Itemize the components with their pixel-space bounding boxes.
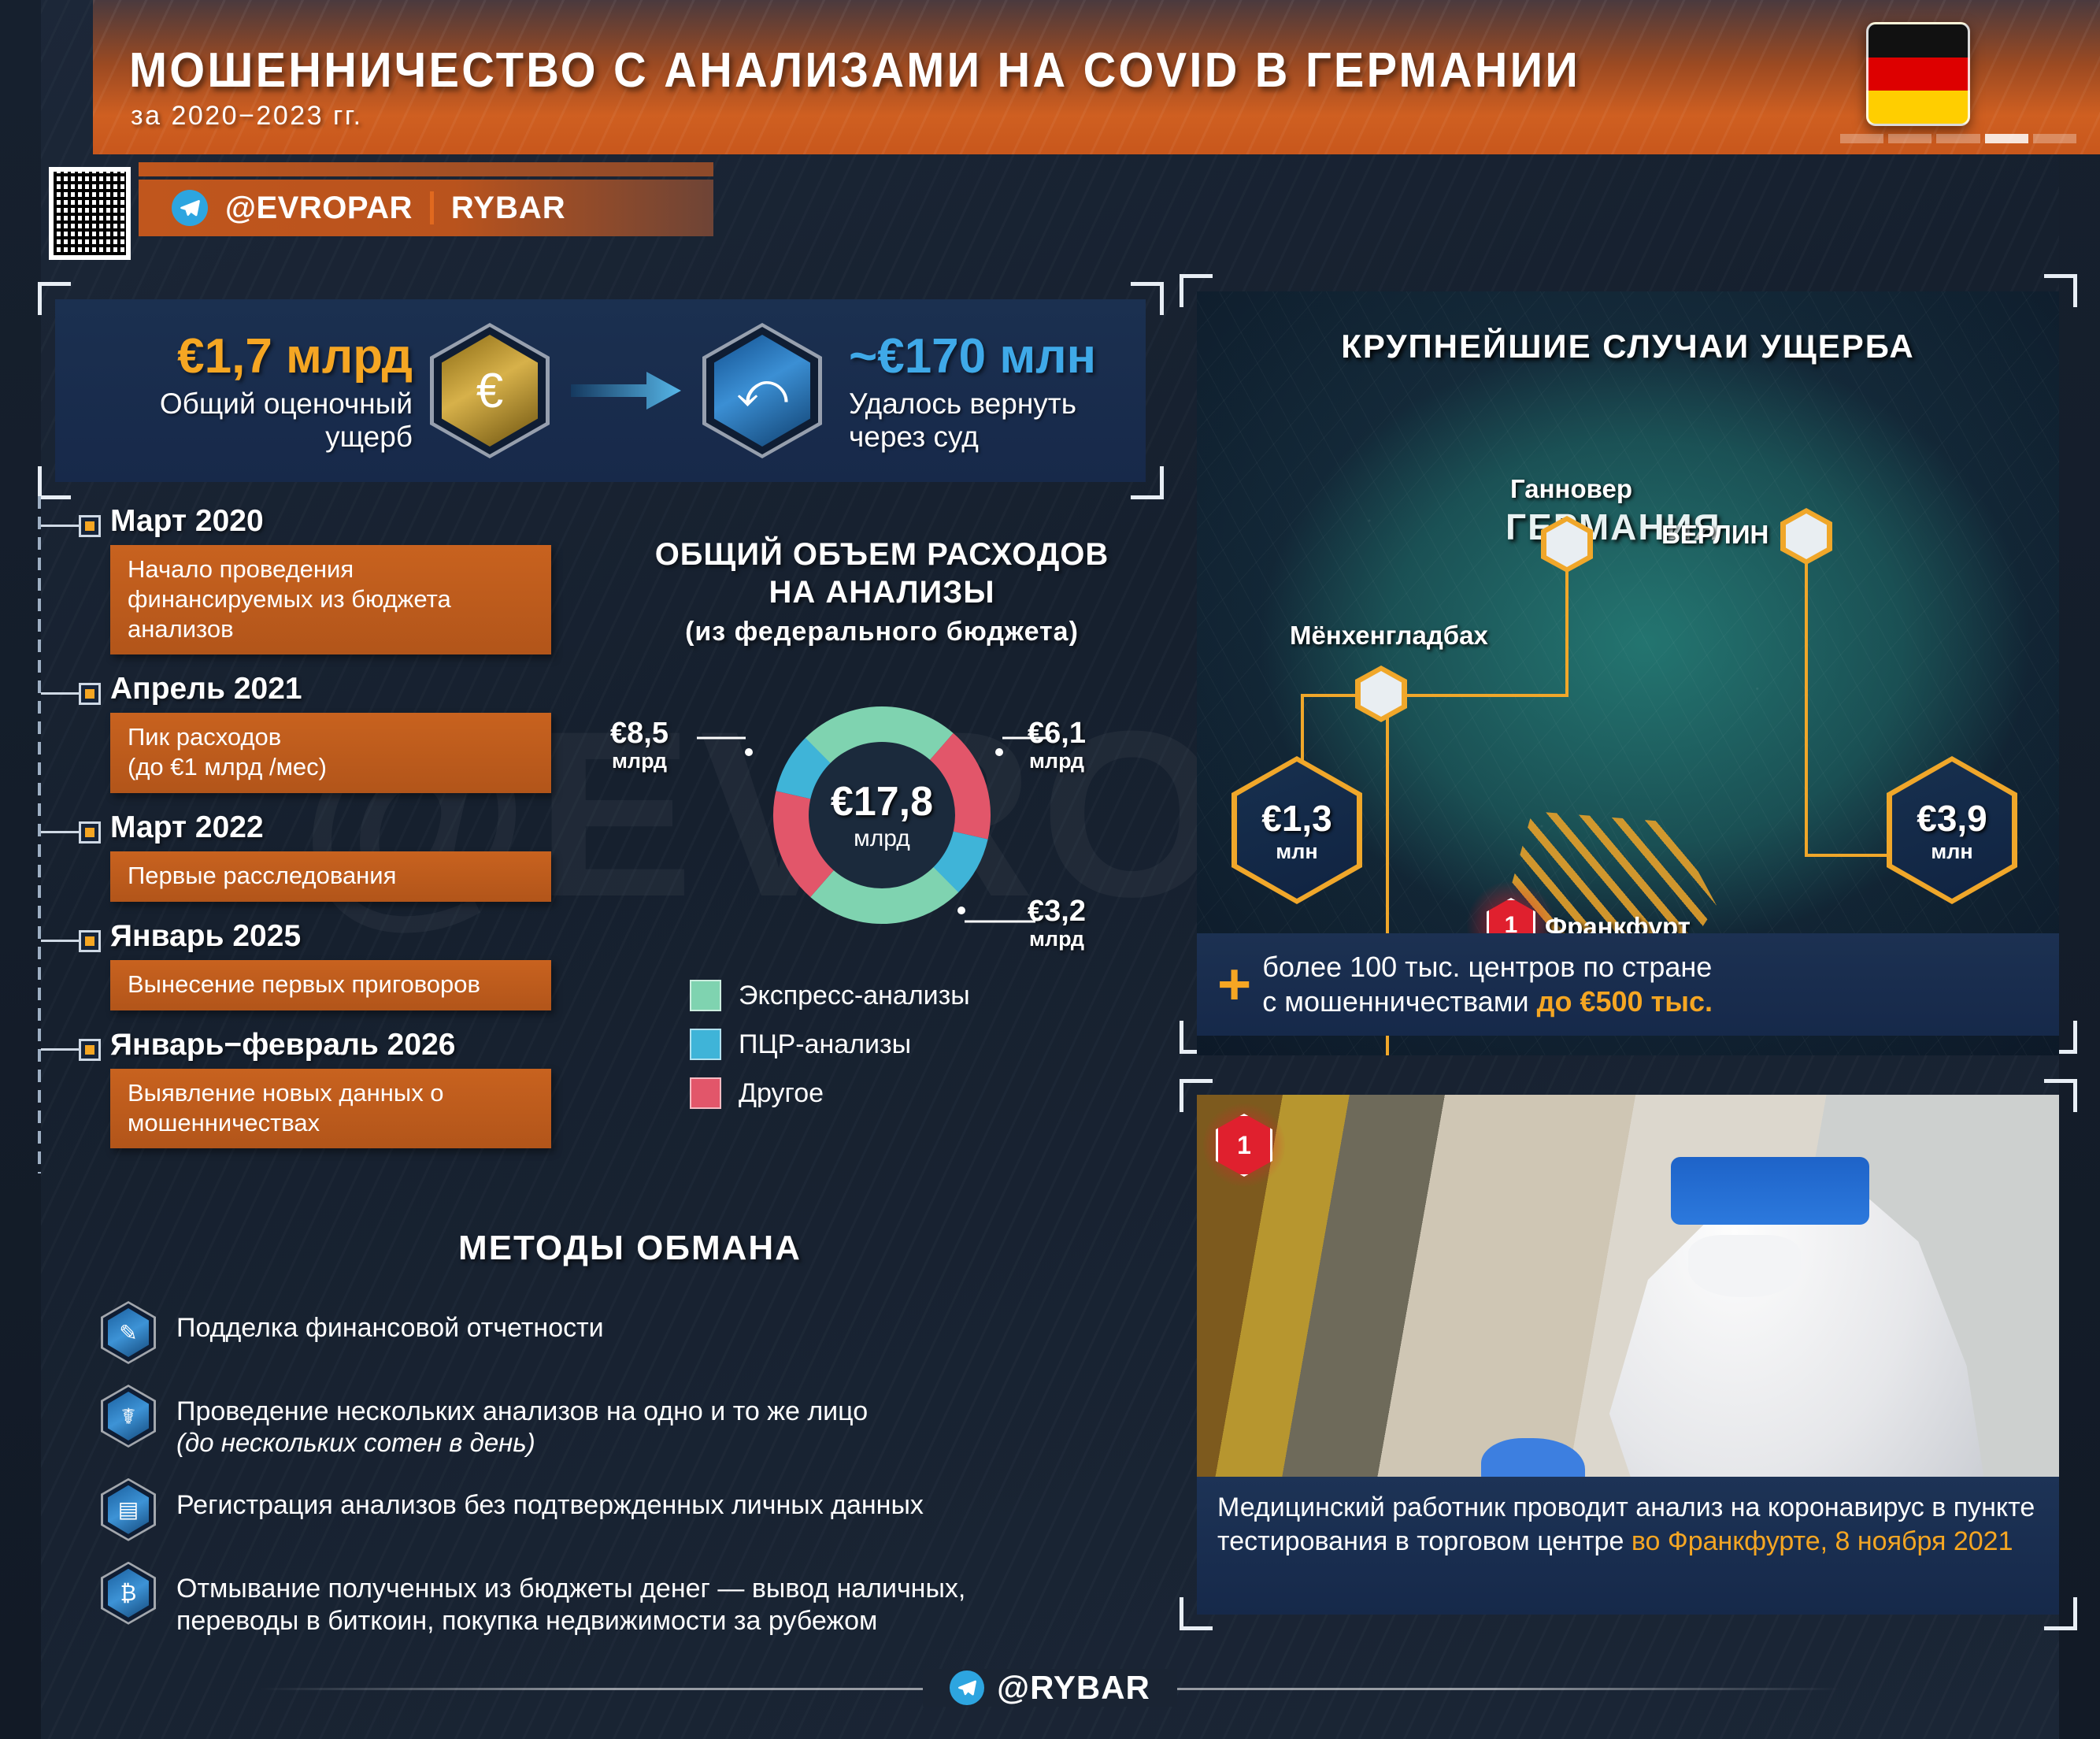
legend-swatch xyxy=(690,1077,721,1109)
header: МОШЕННИЧЕСТВО С АНАЛИЗАМИ НА COVID В ГЕР… xyxy=(93,0,2100,154)
brandbar: @EVROPAR RYBAR xyxy=(139,180,713,236)
brand-handle[interactable]: @EVROPAR xyxy=(225,191,413,226)
photo-caption: Медицинский работник проводит анализ на … xyxy=(1197,1477,2059,1615)
timeline-text: Первые расследования xyxy=(110,851,551,902)
connector xyxy=(1805,542,1808,857)
connector xyxy=(1565,551,1569,697)
qr-code-icon[interactable] xyxy=(49,167,131,260)
money-laundering-icon: ₿ xyxy=(101,1562,156,1625)
summary-left: €1,7 млрд Общий оценочныйущерб xyxy=(82,328,413,453)
right-rail xyxy=(2059,0,2100,1739)
id-card-icon: ▤ xyxy=(101,1478,156,1541)
recovered-label: Удалось вернутьчерез суд xyxy=(849,387,1119,453)
damage-value-1: €1,3 млн xyxy=(1231,756,1362,904)
money-return-icon: ⤺ xyxy=(702,323,822,458)
method-text-group: Проведение нескольких анализов на одно и… xyxy=(176,1385,868,1458)
footer-handle[interactable]: @RYBAR xyxy=(997,1669,1150,1707)
footer-badge[interactable]: @RYBAR xyxy=(923,1669,1177,1707)
page-title: МОШЕННИЧЕСТВО С АНАЛИЗАМИ НА COVID В ГЕР… xyxy=(129,43,1580,98)
expenses-chart: ОБЩИЙ ОБЪЕМ РАСХОДОВ НА АНАЛИЗЫ (из феде… xyxy=(630,536,1134,1126)
timeline-date: Март 2022 xyxy=(110,810,598,845)
timeline-item: Март 2022 Первые расследования xyxy=(24,810,598,902)
plus-icon: + xyxy=(1217,961,1251,1007)
timeline-text: Вынесение первых приговоров xyxy=(110,960,551,1010)
telegram-icon xyxy=(172,190,208,226)
legend-item: Другое xyxy=(690,1077,1134,1109)
timeline-node xyxy=(79,515,101,537)
city-label-hannover: Ганновер xyxy=(1510,474,1632,504)
donut: €17,8 млрд €8,5 млрд €6,1 млрд €3,2 млрд xyxy=(752,685,1012,945)
map-footer: + более 100 тыс. центров по стране с мош… xyxy=(1197,933,2059,1036)
brandbar-accent xyxy=(139,162,713,176)
timeline-item: Апрель 2021 Пик расходов(до €1 млрд /мес… xyxy=(24,672,598,793)
city-label-monchengladbach: Мёнхенгладбах xyxy=(1290,621,1488,651)
timeline-item: Январь−февраль 2026 Выявление новых данн… xyxy=(24,1028,598,1149)
photo-panel: 1 Медицинский работник проводит анализ н… xyxy=(1197,1095,2059,1615)
legend-swatch xyxy=(690,1029,721,1060)
method-item: ₿ Отмывание полученных из бюджеты денег … xyxy=(79,1562,1181,1637)
timeline-date: Январь−февраль 2026 xyxy=(110,1028,598,1062)
timeline-node xyxy=(79,821,101,844)
methods-title: МЕТОДЫ ОБМАНА xyxy=(79,1229,1181,1268)
footer: @RYBAR xyxy=(0,1637,2100,1739)
timeline-text: Начало проведения финансируемых из бюдже… xyxy=(110,545,551,654)
map-footer-text: более 100 тыс. центров по стране с мошен… xyxy=(1262,950,1713,1019)
page-subtitle: за 2020−2023 гг. xyxy=(131,101,363,132)
method-text: Подделка финансовой отчетности xyxy=(176,1301,604,1344)
chart-legend: Экспресс-анализы ПЦР-анализы Другое xyxy=(690,980,1134,1109)
damage-value-2: €3,9 млн xyxy=(1887,756,2017,904)
document-edit-icon: ✎ xyxy=(101,1301,156,1364)
chart-label-express: €8,5 млрд xyxy=(610,718,669,772)
timeline-date: Апрель 2021 xyxy=(110,672,598,706)
map-title: КРУПНЕЙШИЕ СЛУЧАИ УЩЕРБА xyxy=(1197,328,2059,365)
city-label-berlin: БЕРЛИН xyxy=(1661,520,1769,550)
header-ticks xyxy=(1840,134,2076,143)
chart-label-pcr: €3,2 млрд xyxy=(1028,896,1086,950)
money-bag-down-chart-icon: € xyxy=(430,323,550,458)
legend-swatch xyxy=(690,980,721,1011)
germany-flag-icon xyxy=(1866,22,1970,126)
city-marker-hannover[interactable] xyxy=(1546,521,1587,567)
timeline: Март 2020 Начало проведения финансируемы… xyxy=(24,504,598,1166)
chart-title: ОБЩИЙ ОБЪЕМ РАСХОДОВ НА АНАЛИЗЫ (из феде… xyxy=(630,536,1134,649)
timeline-item: Январь 2025 Вынесение первых приговоров xyxy=(24,919,598,1010)
method-text: Отмывание полученных из бюджеты денег — … xyxy=(176,1562,965,1637)
total-damage-label: Общий оценочныйущерб xyxy=(82,387,413,453)
method-item: ✎ Подделка финансовой отчетности xyxy=(79,1301,1181,1364)
chart-subtitle: (из федерального бюджета) xyxy=(685,617,1079,647)
photo-mask xyxy=(1688,1235,1800,1297)
timeline-node xyxy=(79,683,101,705)
method-text: Регистрация анализов без подтвержденных … xyxy=(176,1478,924,1522)
method-subtext: (до нескольких сотен в день) xyxy=(176,1428,868,1458)
chart-total-unit: млрд xyxy=(854,825,910,852)
method-item: ☤ Проведение нескольких анализов на одно… xyxy=(79,1385,1181,1458)
donut-center: €17,8 млрд xyxy=(809,742,955,888)
timeline-item: Март 2020 Начало проведения финансируемы… xyxy=(24,504,598,654)
brand-divider xyxy=(430,191,434,224)
total-damage-value: €1,7 млрд xyxy=(82,328,413,384)
legend-item: ПЦР-анализы xyxy=(690,1029,1134,1060)
photo-badge: 1 xyxy=(1216,1114,1272,1177)
photo-face-shield xyxy=(1671,1157,1869,1225)
legend-item: Экспресс-анализы xyxy=(690,980,1134,1011)
city-marker-monchengladbach[interactable] xyxy=(1361,671,1402,717)
timeline-node xyxy=(79,930,101,952)
timeline-text: Выявление новых данных о мошенничествах xyxy=(110,1069,551,1149)
legend-label: Экспресс-анализы xyxy=(739,981,970,1011)
connector xyxy=(1386,694,1567,697)
legend-label: Другое xyxy=(739,1078,824,1109)
chart-total-value: €17,8 xyxy=(831,778,933,825)
method-item: ▤ Регистрация анализов без подтвержденны… xyxy=(79,1478,1181,1541)
arrow-right-icon xyxy=(567,369,685,413)
summary-panel: €1,7 млрд Общий оценочныйущерб € ⤺ ~€170… xyxy=(55,299,1146,482)
summary-right: ~€170 млн Удалось вернутьчерез суд xyxy=(839,328,1119,453)
timeline-node xyxy=(79,1039,101,1061)
timeline-date: Март 2020 xyxy=(110,504,598,539)
timeline-text: Пик расходов(до €1 млрд /мес) xyxy=(110,713,551,793)
doctor-icon: ☤ xyxy=(101,1385,156,1448)
city-marker-berlin[interactable] xyxy=(1786,514,1827,559)
timeline-date: Январь 2025 xyxy=(110,919,598,954)
recovered-value: ~€170 млн xyxy=(849,328,1119,384)
methods-section: МЕТОДЫ ОБМАНА ✎ Подделка финансовой отче… xyxy=(79,1229,1181,1657)
brand-partner: RYBAR xyxy=(451,191,566,226)
legend-label: ПЦР-анализы xyxy=(739,1029,911,1060)
telegram-icon xyxy=(950,1670,984,1705)
method-text: Проведение нескольких анализов на одно и… xyxy=(176,1385,868,1428)
